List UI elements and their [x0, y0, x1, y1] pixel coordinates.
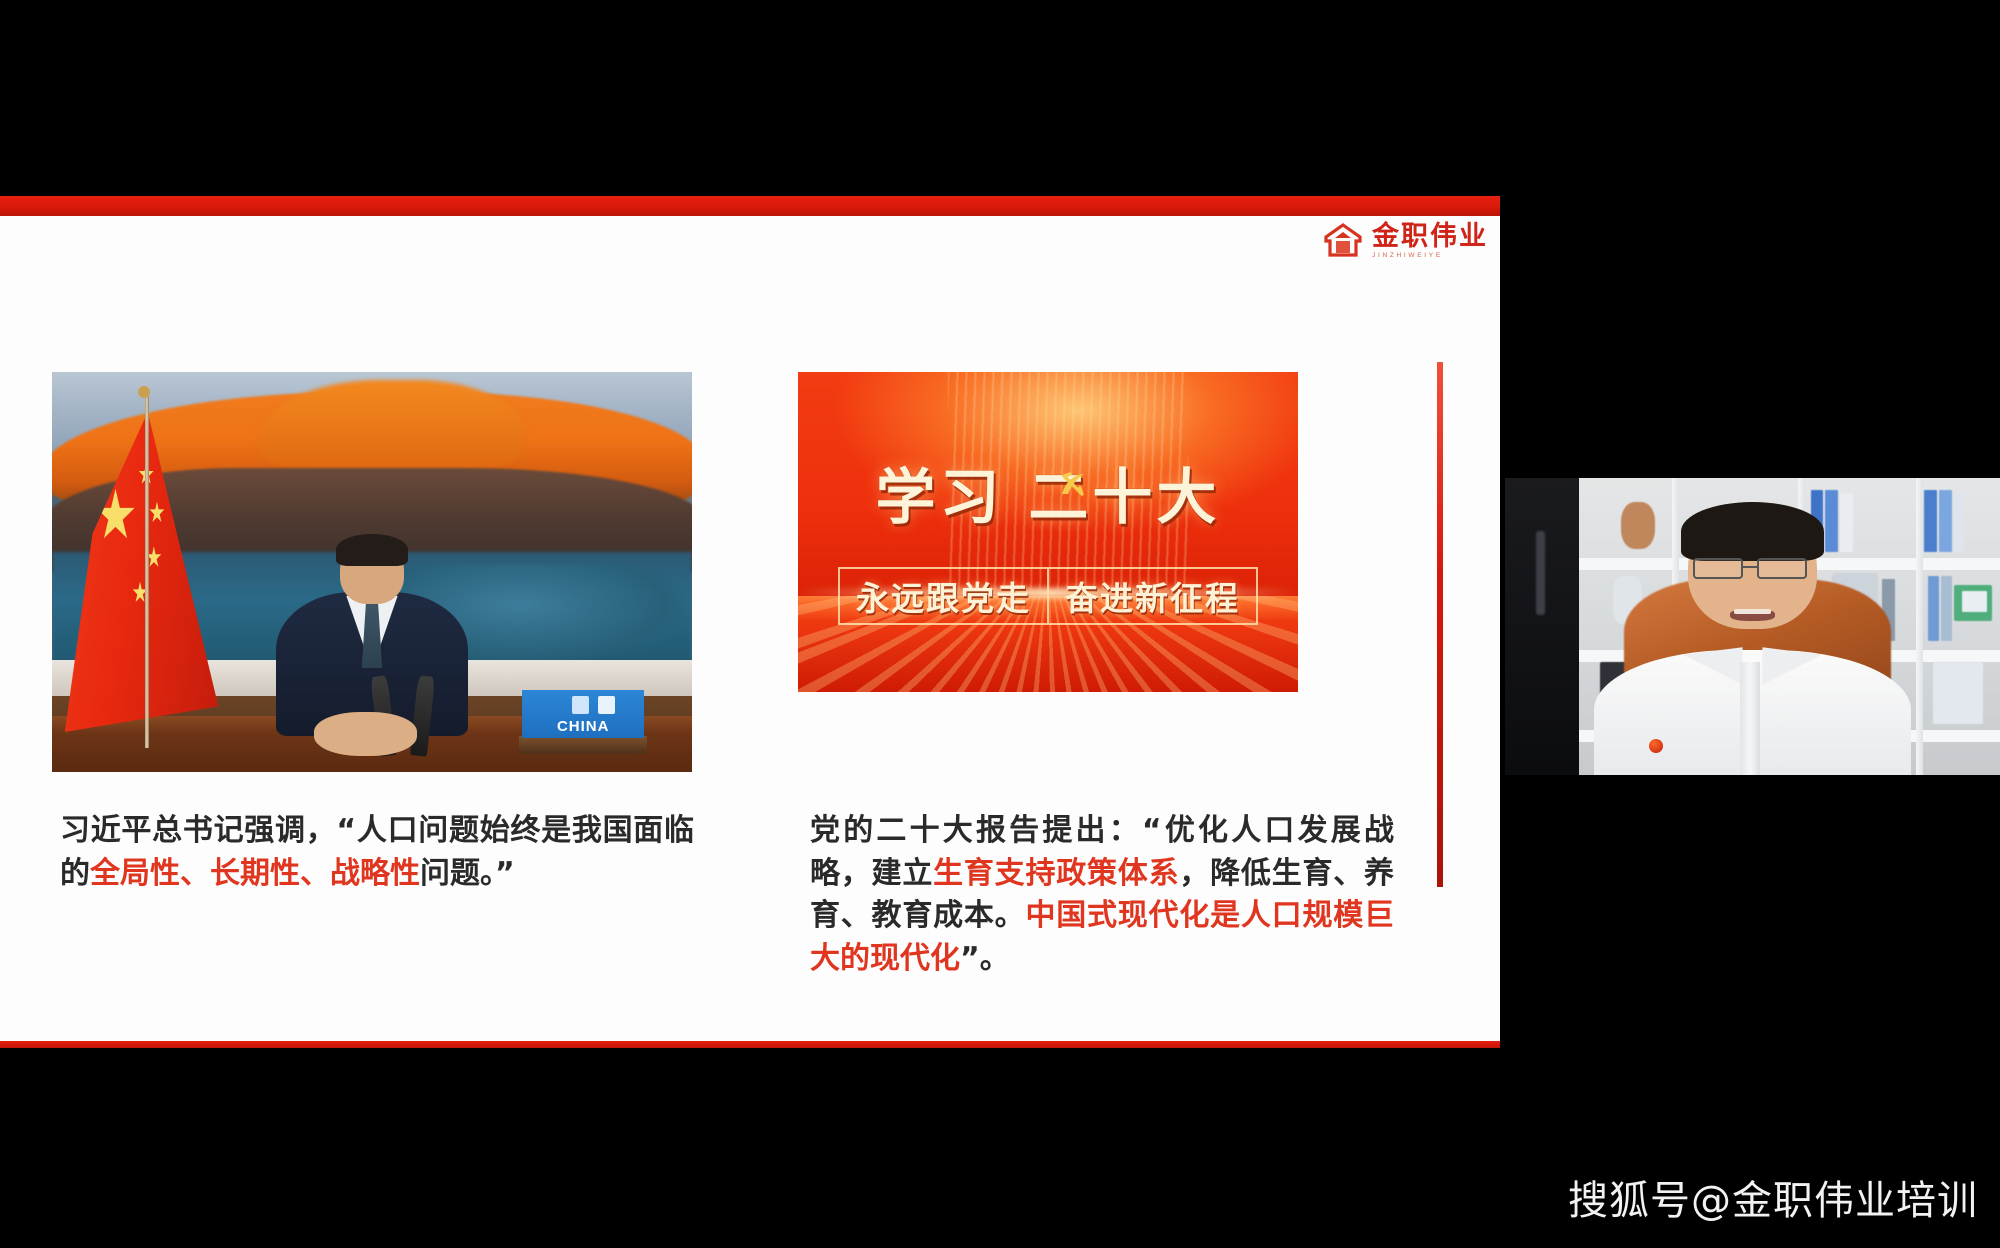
photo-flagpole — [145, 396, 149, 748]
brand-logo: 金职伟业 JINZHIWEIYE — [1323, 222, 1488, 260]
caption-right: 党的二十大报告提出：“优化人口发展战略，建立生育支持政策体系，降低生育、养育、教… — [810, 810, 1394, 980]
caption-left: 习近平总书记强调，“人口问题始终是我国面临的全局性、长期性、战略性问题。” — [60, 810, 694, 895]
brand-name-en: JINZHIWEIYE — [1372, 253, 1488, 260]
ccp-hammer-sickle-icon — [1056, 468, 1090, 502]
webcam-presenter-mouth — [1730, 609, 1775, 621]
caption-right-part3: ”。 — [960, 941, 1010, 976]
presenter-webcam-feed — [1505, 478, 2000, 775]
video-player-stage: 金职伟业 JINZHIWEIYE — [0, 0, 2000, 1248]
caption-left-highlight: 全局性、长期性、战略性 — [90, 856, 420, 891]
brand-logo-text: 金职伟业 JINZHIWEIYE — [1372, 223, 1488, 260]
webcam-party-badge-pin — [1649, 739, 1663, 753]
banner-subtitle-row: 永远跟党走 奋进新征程 — [838, 567, 1258, 625]
caption-right-highlight1: 生育支持政策体系 — [933, 856, 1179, 891]
nameplate-label: CHINA — [557, 718, 610, 735]
photo-person-hands — [314, 712, 416, 756]
webcam-dark-cabinet — [1505, 478, 1579, 775]
channel-watermark: 搜狐号@金职伟业培训 — [1568, 1168, 1978, 1226]
photo-person-hair — [336, 534, 409, 566]
banner-subtitle-left: 永远跟党走 — [838, 567, 1049, 625]
glasses-lens-left-icon — [1693, 558, 1743, 579]
banner-title: 学习 二十大 — [798, 468, 1298, 528]
glasses-bridge-icon — [1743, 566, 1758, 568]
webcam-shirt-placket — [1740, 662, 1760, 775]
slide-bottom-red-bar — [0, 1041, 1500, 1048]
webcam-presenter-hair — [1681, 502, 1825, 561]
photo-nameplate-base — [519, 736, 647, 754]
study-20th-congress-banner: 学习 二十大 永远跟党走 奋进新征程 — [798, 372, 1298, 692]
slide-top-red-bar — [0, 196, 1500, 216]
caption-left-part2: 问题。” — [420, 856, 515, 891]
glasses-lens-right-icon — [1757, 558, 1807, 579]
banner-subtitle-right: 奋进新征程 — [1049, 567, 1258, 625]
house-roof-logo-icon — [1323, 222, 1363, 260]
photo-country-nameplate: CHINA — [522, 690, 644, 738]
leader-speech-photo: CHINA — [52, 372, 692, 772]
slide-right-red-accent-bar — [1437, 362, 1443, 887]
presentation-slide: 金职伟业 JINZHIWEIYE — [0, 196, 1500, 1048]
brand-name-cn: 金职伟业 — [1372, 223, 1488, 250]
